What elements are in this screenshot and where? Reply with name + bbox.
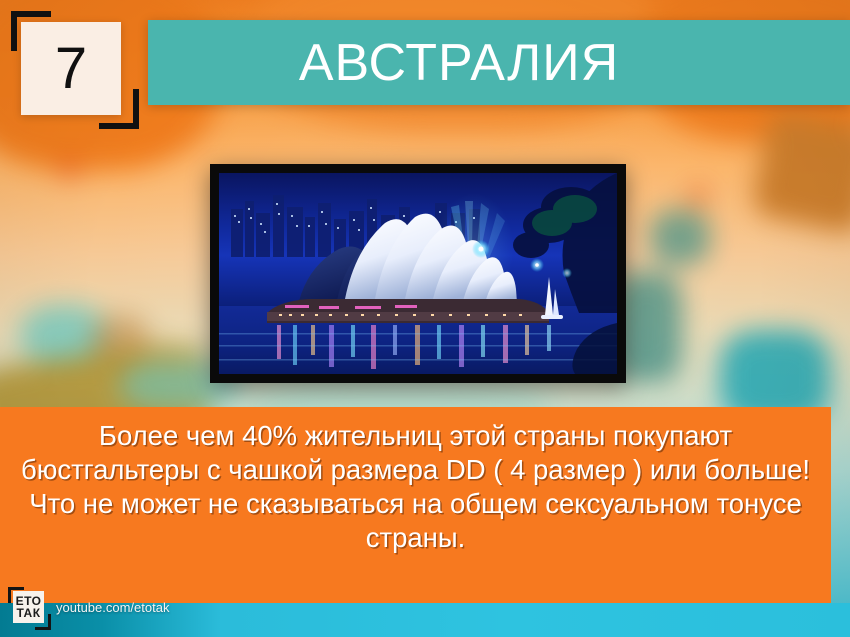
caption-text: Более чем 40% жительниц этой страны поку… [0, 419, 831, 555]
logo-box: ЕТО ТАК [13, 591, 44, 623]
photo-screen [219, 173, 617, 374]
slide-root: АВСТРАЛИЯ 7 [0, 0, 850, 637]
channel-logo-icon: ЕТО ТАК [8, 587, 48, 627]
slide-number-value: 7 [55, 40, 87, 98]
watermark[interactable]: ЕТО ТАК youtube.com/etotak [8, 585, 169, 629]
title-bar: АВСТРАЛИЯ [148, 20, 850, 105]
logo-line-2: ТАК [16, 607, 40, 619]
page-title: АВСТРАЛИЯ [299, 37, 699, 89]
slide-number-box: 7 [21, 22, 121, 115]
caption-band: Более чем 40% жительниц этой страны поку… [0, 407, 831, 603]
photo-frame [210, 164, 626, 383]
sydney-opera-house-night-photo [219, 173, 617, 374]
channel-url[interactable]: youtube.com/etotak [56, 600, 169, 615]
slide-number-badge: 7 [11, 11, 133, 123]
